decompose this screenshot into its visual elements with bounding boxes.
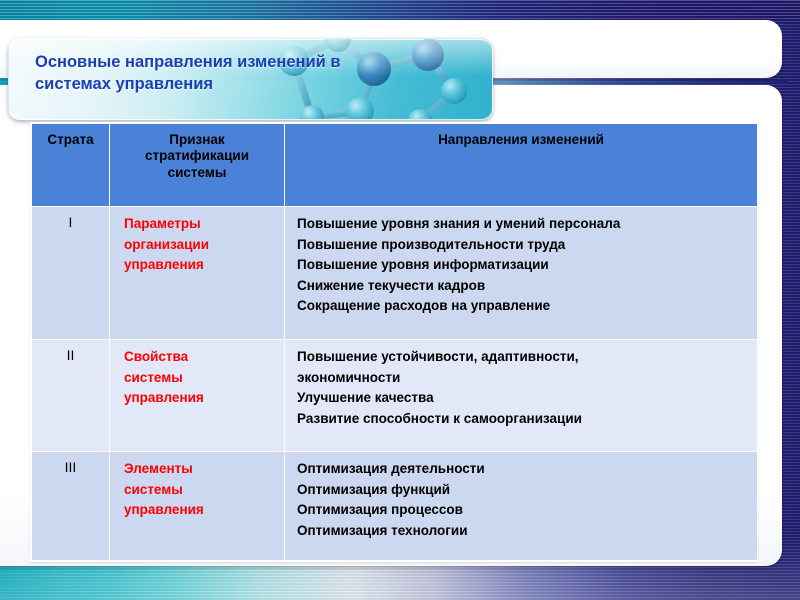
- column-header-strata: Страта: [32, 124, 110, 207]
- list-item: Повышение производительности труда: [297, 235, 749, 256]
- list-item: Оптимизация деятельности: [297, 459, 749, 480]
- cell-napravleniya: Оптимизация деятельности Оптимизация фун…: [285, 452, 758, 561]
- list-item: Оптимизация технологии: [297, 521, 749, 542]
- strata-table: Страта Признак стратификации системы Нап…: [31, 123, 758, 561]
- table-row: III Элементы системы управления Оптимиза…: [32, 452, 758, 561]
- strata-value: III: [32, 452, 109, 475]
- table-row: II Свойства системы управления Повышение…: [32, 340, 758, 452]
- title-banner: Основные направления изменений в система…: [8, 38, 493, 120]
- column-header-napravleniya: Направления изменений: [285, 124, 758, 207]
- napravleniya-list: Оптимизация деятельности Оптимизация фун…: [285, 452, 757, 541]
- column-header-strata-label: Страта: [32, 124, 109, 148]
- list-item: Оптимизация процессов: [297, 500, 749, 521]
- cell-strata: I: [32, 207, 110, 340]
- page-title: Основные направления изменений в система…: [35, 52, 365, 96]
- table-header: Страта Признак стратификации системы Нап…: [32, 124, 758, 207]
- cell-napravleniya: Повышение устойчивости, адаптивности, эк…: [285, 340, 758, 452]
- cell-priznak: Элементы системы управления: [110, 452, 285, 561]
- list-item: Повышение уровня знания и умений персона…: [297, 214, 749, 235]
- column-header-priznak-label: Признак стратификации системы: [110, 124, 284, 181]
- header-accent-rule: [490, 81, 788, 83]
- cell-priznak: Свойства системы управления: [110, 340, 285, 452]
- napravleniya-list: Повышение устойчивости, адаптивности, эк…: [285, 340, 757, 429]
- list-item: Снижение текучести кадров: [297, 276, 749, 297]
- list-item: Развитие способности к самоорганизации: [297, 409, 749, 430]
- list-item: Повышение устойчивости, адаптивности, эк…: [297, 347, 749, 388]
- cell-priznak: Параметры организации управления: [110, 207, 285, 340]
- slide: Основные направления изменений в система…: [0, 0, 800, 600]
- napravleniya-list: Повышение уровня знания и умений персона…: [285, 207, 757, 317]
- priznak-value: Элементы системы управления: [110, 452, 284, 521]
- priznak-value: Параметры организации управления: [110, 207, 284, 276]
- column-header-priznak: Признак стратификации системы: [110, 124, 285, 207]
- cell-napravleniya: Повышение уровня знания и умений персона…: [285, 207, 758, 340]
- list-item: Оптимизация функций: [297, 480, 749, 501]
- strata-value: II: [32, 340, 109, 363]
- cell-strata: II: [32, 340, 110, 452]
- list-item: Сокращение расходов на управление: [297, 296, 749, 317]
- priznak-value: Свойства системы управления: [110, 340, 284, 409]
- list-item: Улучшение качества: [297, 388, 749, 409]
- background-top-band-stripes: [0, 0, 800, 20]
- table-header-row: Страта Признак стратификации системы Нап…: [32, 124, 758, 207]
- table-body: I Параметры организации управления Повыш…: [32, 207, 758, 561]
- strata-table-container: Страта Признак стратификации системы Нап…: [30, 122, 758, 562]
- table-row: I Параметры организации управления Повыш…: [32, 207, 758, 340]
- strata-value: I: [32, 207, 109, 230]
- cell-strata: III: [32, 452, 110, 561]
- list-item: Повышение уровня информатизации: [297, 255, 749, 276]
- column-header-napravleniya-label: Направления изменений: [285, 124, 757, 148]
